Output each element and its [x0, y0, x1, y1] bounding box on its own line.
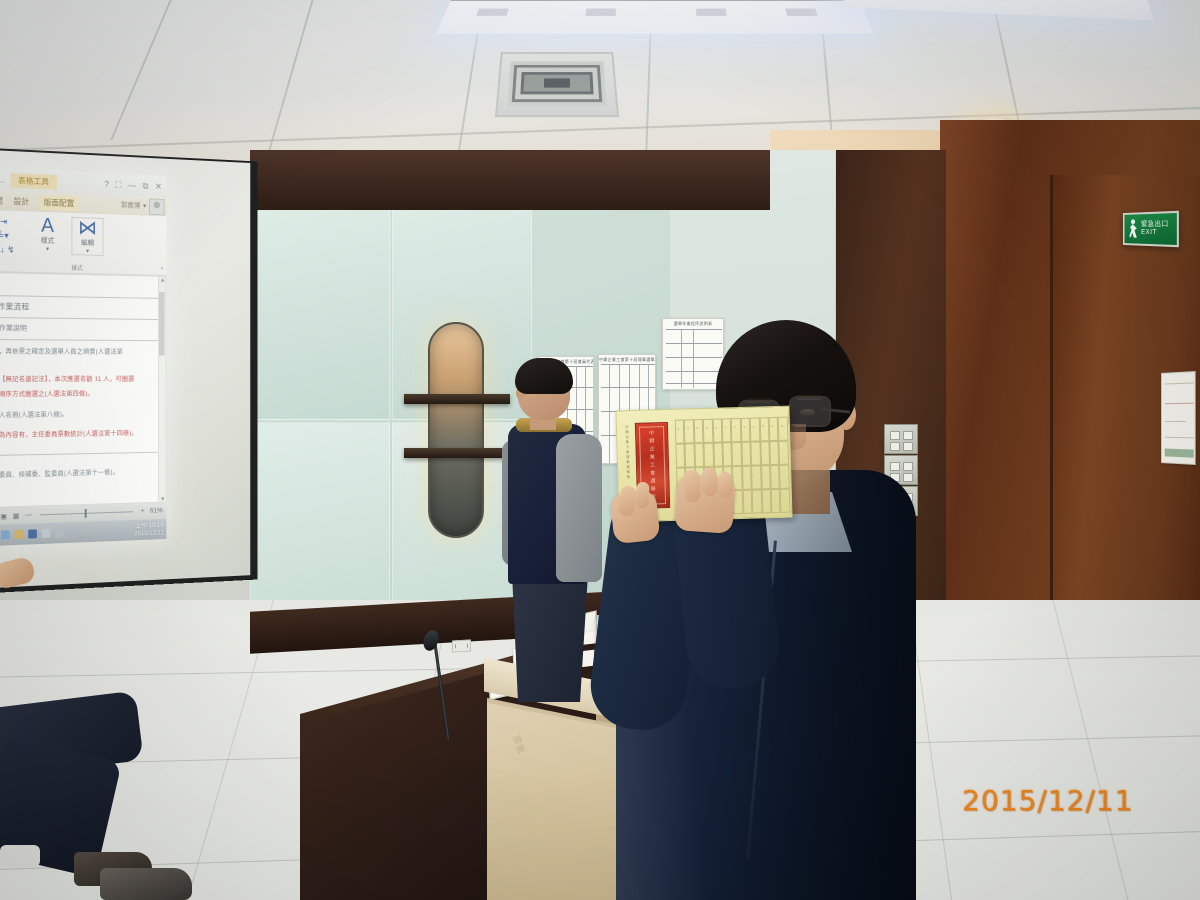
seated-attendee-shoe-2: [100, 868, 192, 900]
chevron-down-icon[interactable]: ▾: [143, 202, 146, 210]
windows-taskbar: 上午 10:19 2015/12/11: [0, 519, 166, 546]
exit-sign-label-zh: 緊急出口: [1141, 221, 1169, 229]
taskbar-clock[interactable]: 上午 10:19 2015/12/11: [134, 521, 163, 538]
ballot-candidate-mark: ○: [771, 424, 773, 428]
ballot-candidate-mark: ○: [734, 425, 736, 429]
decorative-wall-niche: [428, 322, 484, 538]
styles-icon: A: [29, 215, 66, 236]
account-name[interactable]: 郭嘉博: [121, 200, 140, 210]
observer-sleeve-right: [556, 434, 602, 582]
document-line-5: 舉票內為內容有，主任委員票數統計(人選法第十四條)。: [0, 427, 138, 439]
word-app-label: Wo...: [0, 174, 4, 184]
ballot-cell[interactable]: [779, 441, 789, 465]
ballot-cell-text: ·: [744, 450, 745, 454]
battery-icon[interactable]: [55, 528, 64, 537]
ballot-candidate-mark: ○: [781, 424, 783, 428]
help-icon[interactable]: ?: [104, 179, 109, 190]
clock-date: 2015/12/11: [134, 529, 163, 538]
seal-glyph-7: 選: [650, 478, 655, 484]
tab-view[interactable]: 檢視: [0, 194, 3, 206]
ballot-cell-text: ·: [745, 474, 746, 478]
photograph-scene: 緊急出口 EXIT 中鋼企業工會第十屆會員代表選舉開票紀錄表 中鋼企業工會第十屆…: [0, 0, 1200, 900]
document-line-4: 記選舉人名冊(人選法第八條)。: [0, 408, 68, 419]
ballot-candidate-mark: ○: [706, 426, 708, 430]
ballot-candidate-mark: ○: [724, 425, 726, 429]
view-web-icon[interactable]: ▣: [0, 512, 7, 520]
ballot-candidate-mark: ○: [753, 425, 755, 429]
word-document-area[interactable]: 選任作業流程 作業說明 出名單，再依票之確定及選舉人員之順實(人選法第 法、照【…: [0, 272, 166, 508]
wall-outlet: [452, 640, 471, 653]
minimize-icon[interactable]: —: [128, 180, 136, 191]
niche-shelf-bar-upper: [404, 394, 510, 404]
explorer-icon[interactable]: [15, 530, 24, 539]
presenter-finger-right-middle: [718, 472, 733, 498]
ballot-cell-text: ·: [763, 473, 764, 477]
projected-word-window: Wo... 表格工具 ? ⛶ — ⧉ ✕ 檢視 設計 版面配置 郭嘉博: [0, 168, 166, 547]
ballot-cell-text: ·: [782, 449, 783, 453]
niche-shelf-bar-lower: [404, 448, 510, 458]
ballot-cell[interactable]: [778, 417, 788, 441]
projection-screen: Wo... 表格工具 ? ⛶ — ⧉ ✕ 檢視 設計 版面配置 郭嘉博: [0, 150, 250, 588]
zoom-out-button[interactable]: —: [25, 512, 32, 519]
exit-sign-label-en: EXIT: [1141, 229, 1169, 237]
ballot-candidate-mark: ○: [762, 424, 764, 428]
zoom-level[interactable]: 61%: [150, 507, 163, 514]
ballot-cell-text: ·: [764, 497, 765, 501]
ribbon-display-options-icon[interactable]: ⛶: [115, 179, 121, 190]
seal-glyph-5: 工: [650, 462, 655, 468]
projection-screen-frame: Wo... 表格工具 ? ⛶ — ⧉ ✕ 檢視 設計 版面配置 郭嘉博: [0, 148, 257, 593]
observer-trousers: [512, 574, 588, 702]
seated-attendee-sock: [0, 845, 40, 867]
view-read-icon[interactable]: ▦: [13, 512, 19, 520]
ballot-cell-text: ·: [716, 451, 717, 455]
word-taskbar-icon[interactable]: [28, 529, 37, 538]
tab-design[interactable]: 設計: [14, 195, 30, 207]
ballot-cell-text: ·: [735, 450, 736, 454]
zoom-in-button[interactable]: +: [141, 508, 145, 515]
scrollbar-thumb[interactable]: [159, 292, 164, 355]
styles-group-label: 樣式: [71, 266, 82, 272]
ballot-candidate-mark: ○: [715, 426, 717, 430]
document-line-1: 出名單，再依票之確定及選舉人員之順實(人選法第: [0, 345, 123, 356]
document-line-6: 員、副委員、候補委、監委員(人選法第十一條)。: [0, 466, 119, 479]
ballot-candidate-mark: ○: [677, 427, 679, 431]
seal-glyph-3: 企: [649, 446, 654, 452]
presenter-glasses-right-lens: [789, 396, 831, 427]
editing-group-button[interactable]: ⋈ 編輯 ▾: [71, 217, 103, 256]
document-scrollbar[interactable]: ▲ ▼: [158, 277, 165, 504]
styles-gallery-button[interactable]: A 樣式 ▾: [29, 215, 66, 253]
hvac-air-diffuser: [495, 52, 619, 117]
ballot-cell-text: ·: [774, 497, 775, 501]
evacuation-route-poster: [1161, 371, 1196, 465]
ballot-cell-text: ·: [754, 474, 755, 478]
collapse-ribbon-icon[interactable]: ^: [161, 267, 164, 274]
wood-header-beam: [250, 150, 770, 210]
seal-glyph-6: 會: [650, 470, 655, 476]
ballot-cell[interactable]: [779, 465, 789, 489]
running-person-icon: [1128, 219, 1139, 238]
seal-glyph-4: 業: [650, 454, 655, 460]
seal-glyph-2: 鋼: [649, 438, 654, 444]
table-tools-contextual-tab[interactable]: 表格工具: [10, 172, 56, 189]
ballot-cell-text: ·: [688, 451, 689, 455]
browser-icon[interactable]: [1, 530, 10, 539]
ballot-cell-text: ·: [783, 497, 784, 501]
ballot-cell-text: ·: [736, 498, 737, 502]
ballot-cell-text: ·: [697, 451, 698, 455]
seal-glyph-1: 中: [649, 430, 654, 436]
presenter-finger-right-thumb: [683, 469, 701, 502]
ballot-cell-text: ·: [753, 450, 754, 454]
ballot-candidate-mark: ○: [687, 426, 689, 430]
tally-sheet-right-title: 中鋼企業工會第十屆理事選舉開票紀錄表: [599, 355, 655, 362]
observer-hair: [515, 358, 573, 394]
presenter-finger-right-index: [702, 468, 717, 496]
ballot-cell-text: ·: [755, 498, 756, 502]
editing-icon: ⋈: [72, 218, 102, 239]
ballot-cell-text: ·: [678, 452, 679, 456]
camera-date-stamp: 2015/12/11: [962, 784, 1133, 817]
light-switch-panel-1[interactable]: [884, 424, 918, 454]
document-subheading: 作業說明: [0, 323, 27, 333]
zoom-slider[interactable]: [40, 511, 134, 515]
ballot-cell-text: ·: [706, 451, 707, 455]
document-line-3: 、依此順序方式圈選之(人選法第四條)。: [0, 388, 94, 398]
word-ribbon: ⇤ ⇥ ▤ ≟▾ ↕ A↓ ↯ A 樣式 ▾ ⋈ 編輯 ▾ 樣式: [0, 210, 166, 276]
ballot-cell[interactable]: [780, 489, 790, 513]
volume-icon[interactable]: [42, 529, 51, 538]
ballot-candidate-mark: ○: [696, 426, 698, 430]
document-line-2: 法、照【無記名連記法】，本次應選名額 11 人，可圈選: [0, 373, 134, 383]
ballot-cell-text: ·: [735, 474, 736, 478]
ballot-candidate-mark: ○: [743, 425, 745, 429]
ballot-cell-text: ·: [772, 449, 773, 453]
tab-page-layout[interactable]: 版面配置: [40, 195, 78, 211]
ballot-cell-text: ·: [782, 473, 783, 477]
procedure-poster: 選舉作業程序說明表: [662, 318, 724, 390]
document-heading: 選任作業流程: [0, 301, 29, 313]
close-icon[interactable]: ✕: [155, 181, 162, 192]
restore-icon[interactable]: ⧉: [143, 180, 149, 191]
ballot-cell-text: ·: [763, 449, 764, 453]
presenter-finger-left-index: [635, 482, 649, 509]
avatar[interactable]: [149, 198, 165, 215]
scroll-up-icon[interactable]: ▲: [160, 278, 165, 284]
ballot-cell-text: ·: [745, 498, 746, 502]
ballot-cell-text: ·: [773, 473, 774, 477]
procedure-poster-title: 選舉作業程序說明表: [663, 319, 723, 326]
seal-glyph-8: 舉: [651, 486, 656, 492]
ballot-cell-text: ·: [725, 450, 726, 454]
emergency-exit-sign: 緊急出口 EXIT: [1123, 211, 1179, 247]
fluorescent-light-panel: [436, 0, 874, 34]
